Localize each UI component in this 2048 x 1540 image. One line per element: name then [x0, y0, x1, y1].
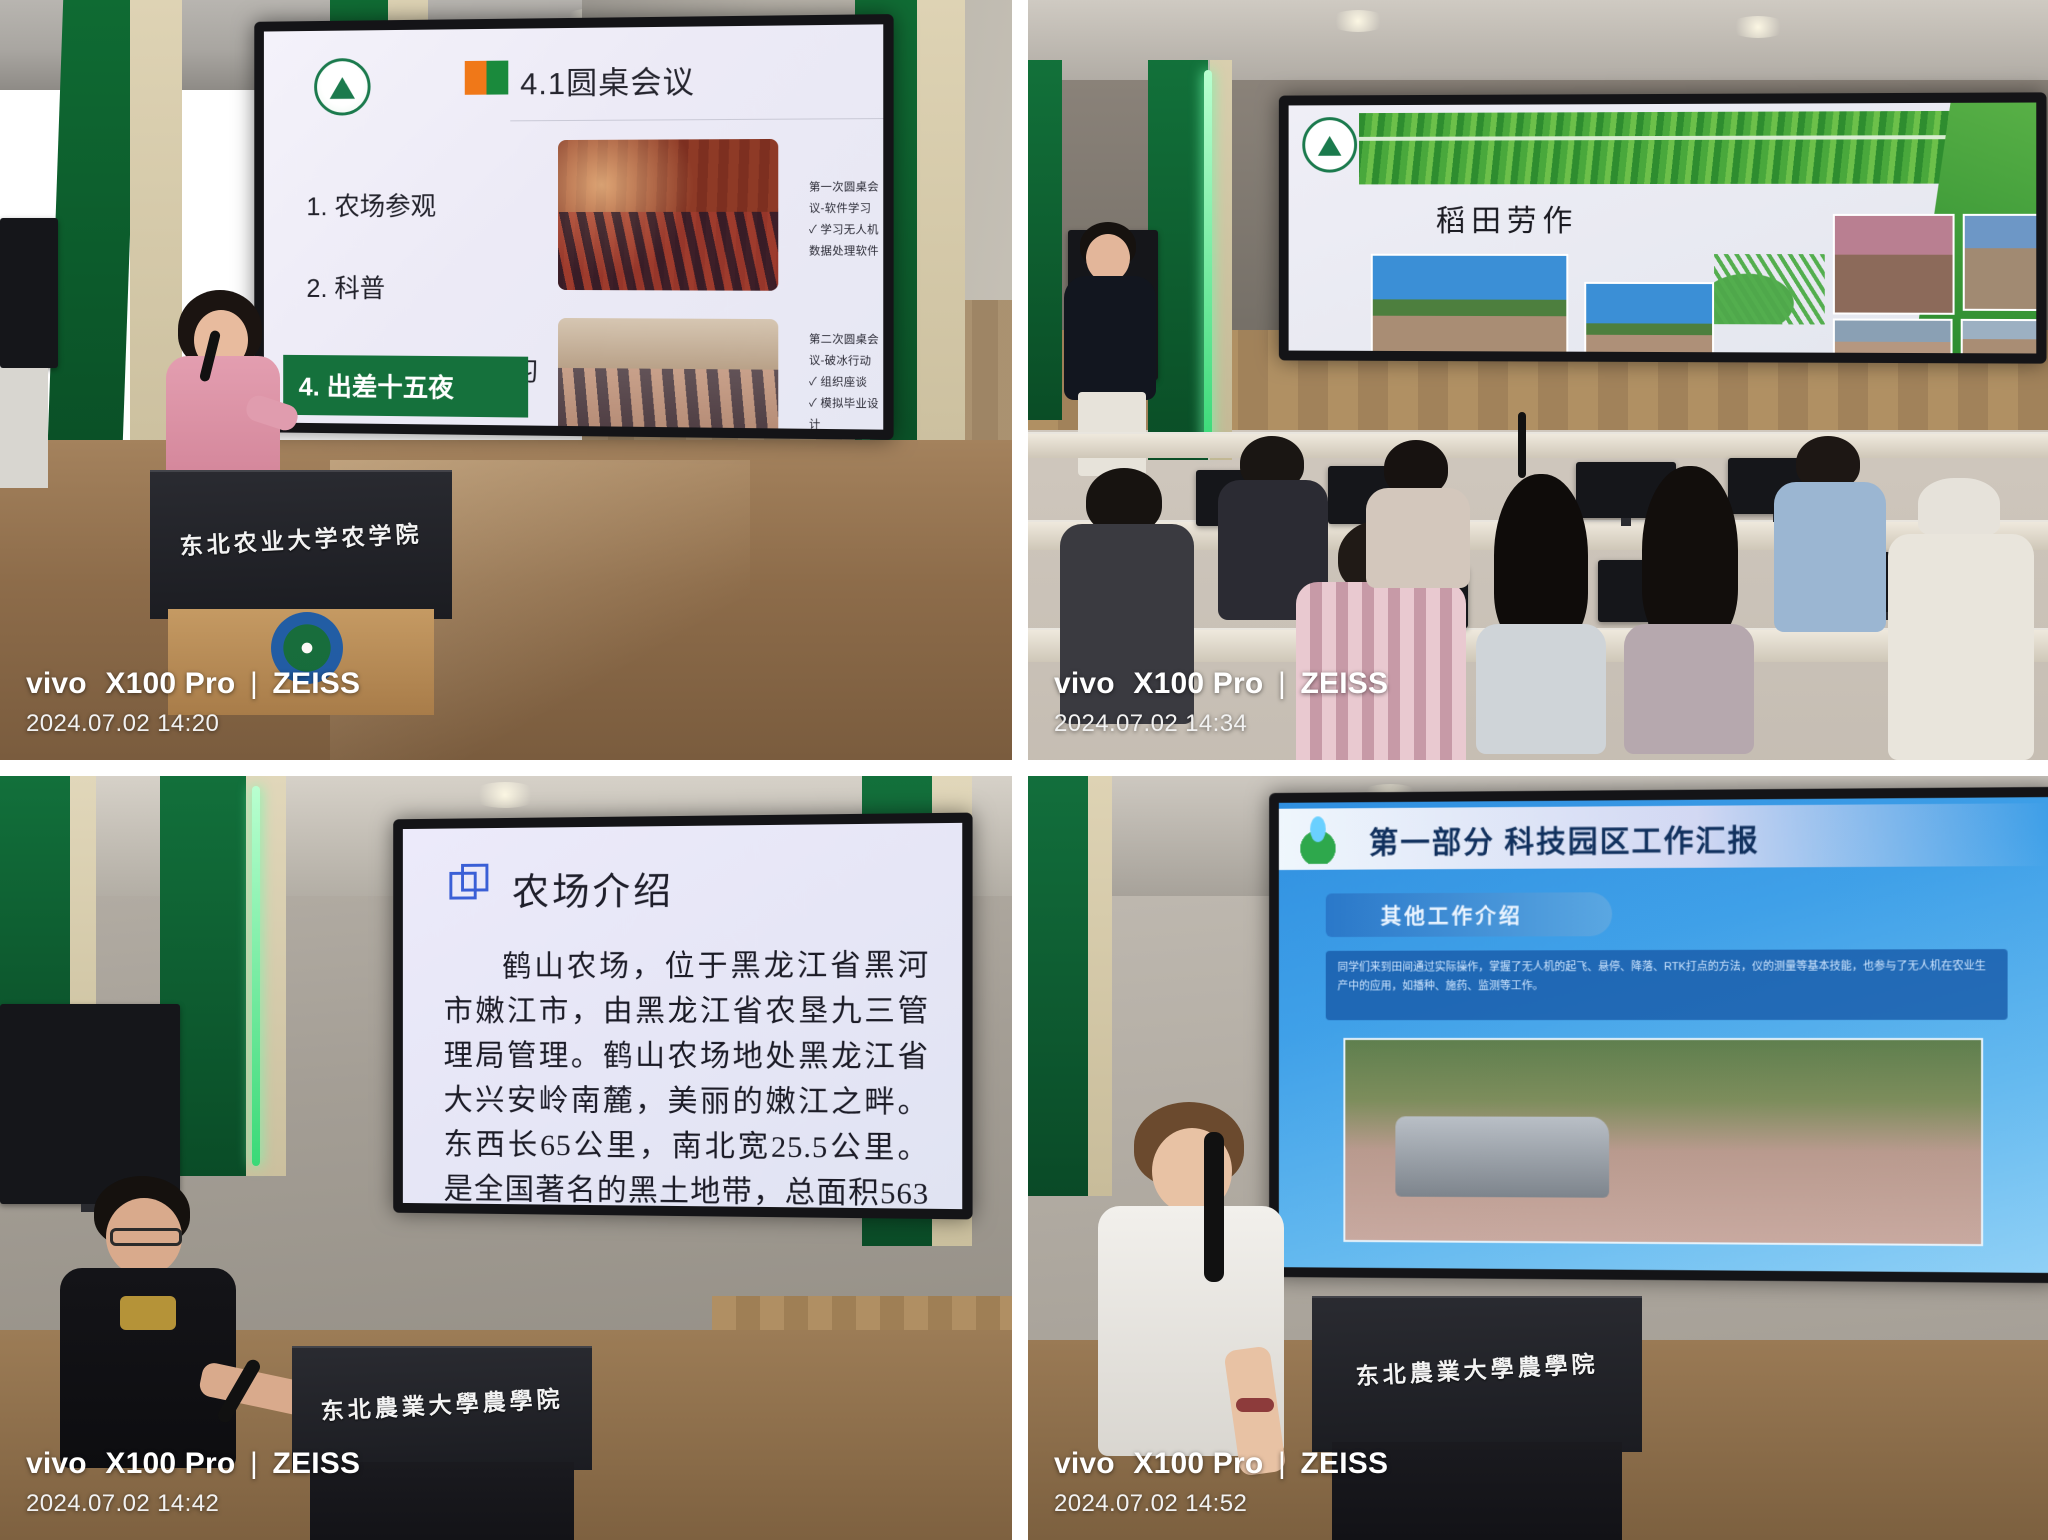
- slide-photo-roundtable-1: [558, 139, 778, 291]
- slide-roundtable-meeting: 4.1圆桌会议 1. 农场参观 2. 科普 3. 农场经营管理学习 4. 出差十…: [264, 24, 883, 429]
- block-bullet: ✓ 组织座谈: [809, 372, 883, 394]
- ceiling-light: [470, 782, 540, 808]
- slide-photo-students-at-field: [1343, 1038, 1983, 1246]
- led-strip: [252, 786, 260, 1166]
- slide-photo: [1833, 318, 1953, 353]
- shirt-graphic: [120, 1296, 176, 1330]
- slide-title: 农场介绍: [512, 860, 674, 916]
- long-hair: [1642, 466, 1738, 642]
- block-heading: 第二次圆桌会议-破冰行动: [809, 329, 883, 372]
- desk-row: [1028, 432, 2048, 458]
- display-screen-3: 农场介绍 鹤山农场，位于黑龙江省黑河市嫩江市，由黑龙江省农垦九三管理局管理。鹤山…: [403, 823, 962, 1209]
- lectern-engraved-text: 东北农业大学农学院: [179, 515, 423, 562]
- wheat-stalk-icon: [1714, 254, 1825, 324]
- audience-member: [1770, 436, 1890, 636]
- collage-panel-top-right[interactable]: 稻田劳作: [1020, 0, 2048, 768]
- microphone: [1204, 1132, 1224, 1282]
- slide-photo-roundtable-2: [558, 318, 778, 430]
- torso: [1060, 524, 1194, 724]
- eyeglasses: [110, 1228, 182, 1246]
- collage-panel-top-left[interactable]: 4.1圆桌会议 1. 农场参观 2. 科普 3. 农场经营管理学习 4. 出差十…: [0, 0, 1020, 768]
- slide-text-block-1: 第一次圆桌会议-软件学习 ✓ 学习无人机数据处理软件: [809, 177, 883, 262]
- two-overlapping-squares-icon: [449, 864, 490, 906]
- photo-bottom-left: 农场介绍 鹤山农场，位于黑龙江省黑河市嫩江市，由黑龙江省农垦九三管理局管理。鹤山…: [0, 776, 1012, 1540]
- outline-item: 1. 农场参观: [306, 186, 542, 223]
- torso-white-shirt: [1888, 534, 2034, 760]
- torso-dark-shirt: [1064, 276, 1156, 400]
- outline-item: 2. 科普: [306, 268, 542, 306]
- lectern-top: 东北農業大學農學院: [1312, 1296, 1642, 1452]
- torso-plaid-shirt: [1296, 582, 1466, 760]
- lectern-body: [1332, 1442, 1622, 1540]
- lectern-body: [310, 1462, 574, 1540]
- slide-rice-field-work: 稻田劳作: [1289, 103, 2037, 354]
- audience-member: [1884, 470, 2034, 760]
- bracelet: [1236, 1398, 1274, 1412]
- presentation-display-3: 农场介绍 鹤山农场，位于黑龙江省黑河市嫩江市，由黑龙江省农垦九三管理局管理。鹤山…: [393, 813, 972, 1220]
- photo-top-right: 稻田劳作: [1028, 0, 2048, 760]
- presenter-person-3: [50, 1176, 250, 1526]
- torso-blue-shirt: [1774, 482, 1886, 632]
- audience-member: [1052, 468, 1202, 718]
- university-crest-icon: [1302, 117, 1357, 173]
- lectern-4: 东北農業大學農學院: [1312, 1296, 1642, 1540]
- presentation-display-4: 第一部分 科技园区工作汇报 其他工作介绍 同学们来到田间通过实际操作，掌握了无人…: [1269, 787, 2048, 1283]
- torso: [1366, 488, 1470, 588]
- side-monitor: [0, 1004, 180, 1204]
- slide-title: 4.1圆桌会议: [520, 57, 695, 104]
- collage-panel-bottom-left[interactable]: 农场介绍 鹤山农场，位于黑龙江省黑河市嫩江市，由黑龙江省农垦九三管理局管理。鹤山…: [0, 768, 1020, 1540]
- cream-wall-panel: [1210, 60, 1232, 460]
- university-seal: [271, 612, 343, 684]
- led-strip: [1204, 70, 1212, 450]
- white-cap: [1918, 478, 2000, 536]
- audience-member: [1476, 474, 1606, 754]
- desk-microphone: [1518, 412, 1526, 478]
- slide-photo: [1961, 319, 2037, 354]
- photo-bottom-right: 第一部分 科技园区工作汇报 其他工作介绍 同学们来到田间通过实际操作，掌握了无人…: [1028, 776, 2048, 1540]
- block-bullet: ✓ 学习无人机数据处理软件: [809, 220, 883, 263]
- lectern-top: 东北农业大学农学院: [150, 470, 452, 619]
- cream-wall-panel: [917, 0, 965, 470]
- slide-subtitle: 其他工作介绍: [1326, 892, 1612, 937]
- presentation-display-1: 4.1圆桌会议 1. 农场参观 2. 科普 3. 农场经营管理学习 4. 出差十…: [254, 14, 893, 440]
- photo-top-left: 4.1圆桌会议 1. 农场参观 2. 科普 3. 农场经营管理学习 4. 出差十…: [0, 0, 1012, 760]
- green-wall-panel: [1028, 776, 1088, 1196]
- audience-member: [1358, 440, 1478, 580]
- flag-icon: [465, 61, 509, 95]
- head: [1086, 234, 1130, 282]
- display-screen-1: 4.1圆桌会议 1. 农场参观 2. 科普 3. 农场经营管理学习 4. 出差十…: [264, 24, 883, 429]
- block-heading: 第一次圆桌会议-软件学习: [809, 177, 883, 220]
- slide-photo: [1963, 214, 2037, 311]
- university-crest-icon: [314, 58, 370, 116]
- slide-photo: [1371, 254, 1568, 354]
- collage-panel-bottom-right[interactable]: 第一部分 科技园区工作汇报 其他工作介绍 同学们来到田间通过实际操作，掌握了无人…: [1020, 768, 2048, 1540]
- display-screen-4: 第一部分 科技园区工作汇报 其他工作介绍 同学们来到田间通过实际操作，掌握了无人…: [1279, 797, 2048, 1273]
- audience-member: [1624, 466, 1754, 756]
- slide-farm-introduction: 农场介绍 鹤山农场，位于黑龙江省黑河市嫩江市，由黑龙江省农垦九三管理局管理。鹤山…: [403, 823, 962, 1209]
- torso: [1624, 624, 1754, 754]
- display-screen-2: 稻田劳作: [1289, 103, 2037, 354]
- slide-park-work-report: 第一部分 科技园区工作汇报 其他工作介绍 同学们来到田间通过实际操作，掌握了无人…: [1279, 797, 2048, 1273]
- slide-body-text: 鹤山农场，位于黑龙江省黑河市嫩江市，由黑龙江省农垦九三管理局管理。鹤山农场地处黑…: [444, 943, 930, 1209]
- green-field-banner: [1359, 111, 2036, 185]
- title-rule: [510, 116, 883, 121]
- torso: [1476, 624, 1606, 754]
- slide-title: 稻田劳作: [1436, 196, 1579, 240]
- slide-photo: [1833, 214, 1955, 315]
- lectern-1: 东北农业大学农学院: [150, 470, 452, 710]
- lectern-engraved-text: 东北農業大學農學院: [1355, 1345, 1599, 1392]
- green-wall-panel: [47, 0, 138, 470]
- long-hair: [1494, 474, 1588, 644]
- lectern-engraved-text: 东北農業大學農學院: [320, 1380, 564, 1427]
- ceiling-light: [1728, 16, 1788, 38]
- slide-title: 第一部分 科技园区工作汇报: [1369, 815, 1760, 861]
- slide-text-block-2: 第二次圆桌会议-破冰行动 ✓ 组织座谈 ✓ 模拟毕业设计: [809, 329, 883, 429]
- side-stand: [0, 368, 48, 488]
- slide-photo: [1584, 282, 1714, 354]
- lectern-top: 东北農業大學農學院: [292, 1346, 592, 1470]
- ceiling-light: [1328, 10, 1388, 32]
- presenter-person-4: [1090, 1102, 1290, 1532]
- lectern-3: 东北農業大學農學院: [292, 1346, 592, 1540]
- side-monitor: [0, 218, 58, 368]
- outline-item-highlighted: 4. 出差十五夜: [283, 355, 528, 418]
- photo-collage: 4.1圆桌会议 1. 农场参观 2. 科普 3. 农场经营管理学习 4. 出差十…: [0, 0, 2048, 1540]
- green-sprout-icon: [1293, 812, 1344, 864]
- slide-paragraph: 同学们来到田间通过实际操作，掌握了无人机的起飞、悬停、降落、RTK打点的方法，仪…: [1326, 949, 2008, 1020]
- presentation-display-2: 稻田劳作: [1279, 92, 2047, 363]
- block-bullet: ✓ 模拟毕业设计: [809, 393, 883, 430]
